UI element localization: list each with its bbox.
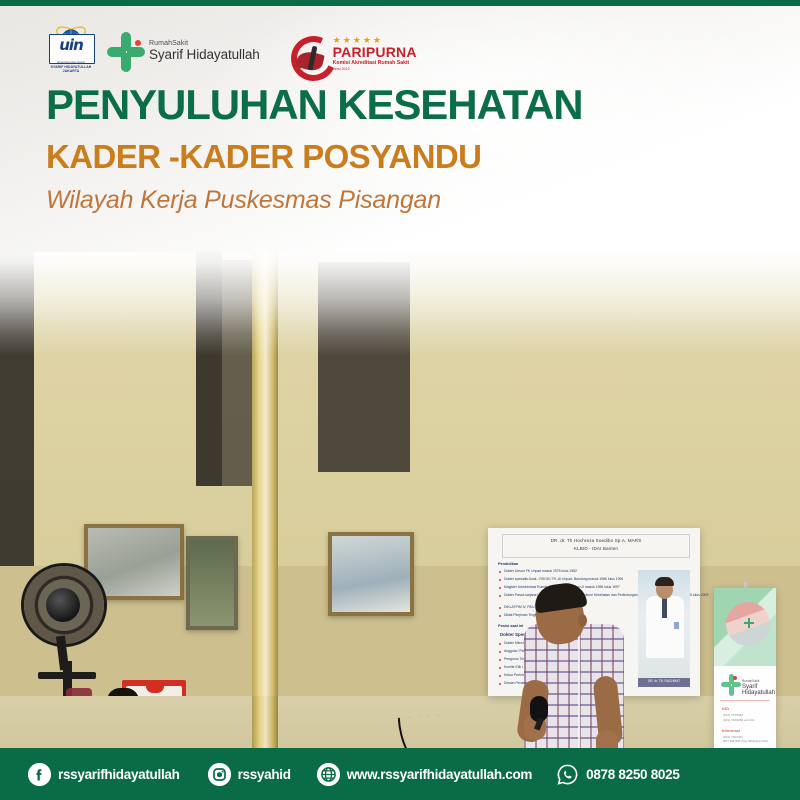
slide-photo-tie bbox=[662, 598, 667, 618]
slide-section-1: Pendidikan bbox=[498, 562, 518, 566]
rumah-sakit-wordmark: RumahSakit Syarif Hidayatullah bbox=[149, 40, 260, 64]
paripurna-sub2: Versi 2012 bbox=[333, 67, 417, 72]
banner-section-heading: Informasi bbox=[722, 728, 740, 733]
banner-section-line: (021) 7404411 bbox=[723, 735, 743, 739]
speaker-ear bbox=[578, 614, 587, 627]
whatsapp-icon[interactable] bbox=[556, 763, 579, 786]
yellow-pillar-lower bbox=[252, 696, 278, 748]
slide-section-2: Posisi saat ini bbox=[498, 624, 523, 628]
contact-footer: rssyarifhidayatullah rssyahid www.rssyar… bbox=[0, 748, 800, 800]
wall-shadow-right bbox=[318, 262, 410, 472]
slide-bullet: Dokter spesialis Anak - RSCM / FK-UI Unp… bbox=[504, 577, 623, 582]
banner-section-heading: IGD bbox=[722, 706, 729, 711]
globe-icon[interactable] bbox=[317, 763, 340, 786]
paripurna-q-icon bbox=[288, 34, 330, 74]
rumah-sakit-logo: RumahSakit Syarif Hidayatullah bbox=[106, 30, 260, 74]
banner-section-line: (021) 7470646 bbox=[723, 713, 743, 717]
poster-root: DR. dr. Th Hochreza Soedibo Sp.A, MARS K… bbox=[0, 0, 800, 800]
footer-item-instagram[interactable]: rssyahid bbox=[208, 763, 291, 786]
slide-photo-hair bbox=[655, 577, 674, 586]
banner-pinwheel-logo bbox=[721, 674, 741, 696]
paripurna-title: PARIPURNA bbox=[333, 45, 417, 60]
poster-title-line2: KADER -KADER POSYANDU bbox=[46, 138, 481, 176]
wall-shadow-mid bbox=[196, 236, 222, 486]
uin-wordmark: uin bbox=[49, 38, 93, 53]
speaker-shirt-placket bbox=[578, 628, 580, 748]
instagram-handle[interactable]: rssyahid bbox=[238, 767, 291, 782]
poster-title-line1: PENYULUHAN KESEHATAN bbox=[46, 82, 582, 128]
wall-picture-3 bbox=[186, 536, 238, 630]
yellow-pillar-upper bbox=[252, 236, 278, 706]
uin-sub-line1: Universitas Islam Negeri bbox=[44, 61, 98, 64]
logo-row: uin Universitas Islam Negeri SYARIF HIDA… bbox=[44, 22, 417, 74]
banner-logo-dot bbox=[733, 676, 737, 680]
facebook-icon[interactable] bbox=[28, 763, 51, 786]
slide-photo-id-badge bbox=[674, 622, 679, 629]
slide-photo-nameplate-text: DR. dr. TB. RACHMAT bbox=[638, 679, 690, 683]
top-accent-strip bbox=[0, 0, 800, 6]
website-url[interactable]: www.rssyarifhidayatullah.com bbox=[347, 767, 532, 782]
slide-bullet: Dokter Umum FK Unpad masuk 1975 lulus 19… bbox=[504, 569, 577, 574]
paripurna-logo: ★★★★★ PARIPURNA Komisi Akreditasi Rumah … bbox=[288, 34, 417, 74]
banner-brand-line2: Syarif Hidayatullah bbox=[742, 684, 776, 696]
wall-shadow-left bbox=[0, 236, 34, 566]
wall-picture-2 bbox=[328, 532, 414, 616]
footer-item-facebook[interactable]: rssyarifhidayatullah bbox=[28, 763, 180, 786]
footer-item-website[interactable]: www.rssyarifhidayatullah.com bbox=[317, 763, 532, 786]
banner-section-line: 0877 9087492 (Only WhatsApp Chat) bbox=[723, 740, 768, 744]
event-photograph: DR. dr. Th Hochreza Soedibo Sp.A, MARS K… bbox=[0, 236, 800, 748]
uin-logo: uin Universitas Islam Negeri SYARIF HIDA… bbox=[44, 22, 98, 74]
instagram-icon[interactable] bbox=[208, 763, 231, 786]
facebook-handle[interactable]: rssyarifhidayatullah bbox=[58, 767, 180, 782]
rs-line2: Syarif Hidayatullah bbox=[149, 48, 260, 62]
slide-title-line2: KLBID - IDAI Banten bbox=[508, 545, 684, 552]
paripurna-wordmark: ★★★★★ PARIPURNA Komisi Akreditasi Rumah … bbox=[333, 35, 417, 73]
banner-divider bbox=[720, 700, 770, 701]
speaker-hand-right bbox=[596, 730, 618, 748]
slide-title-line1: DR. dr. Th Hochreza Soedibo Sp.A, MARS bbox=[508, 537, 684, 544]
fan-hub bbox=[46, 588, 80, 622]
medical-cross-icon bbox=[744, 618, 754, 628]
poster-subtitle: Wilayah Kerja Puskesmas Pisangan bbox=[46, 185, 441, 215]
uin-sub-line2: SYARIF HIDAYATULLAH JAKARTA bbox=[44, 65, 98, 73]
pinwheel-icon bbox=[106, 30, 146, 74]
footer-item-whatsapp[interactable]: 0878 8250 8025 bbox=[556, 763, 679, 786]
rollup-banner: RumahSakit Syarif Hidayatullah IGD (021)… bbox=[714, 588, 776, 748]
paripurna-sub1: Komisi Akreditasi Rumah Sakit bbox=[333, 60, 417, 67]
banner-brand-line1: RumahSakit bbox=[742, 679, 759, 683]
whatsapp-number[interactable]: 0878 8250 8025 bbox=[586, 767, 679, 782]
banner-section-line: (021) 7430268 ext.101 bbox=[723, 718, 754, 722]
